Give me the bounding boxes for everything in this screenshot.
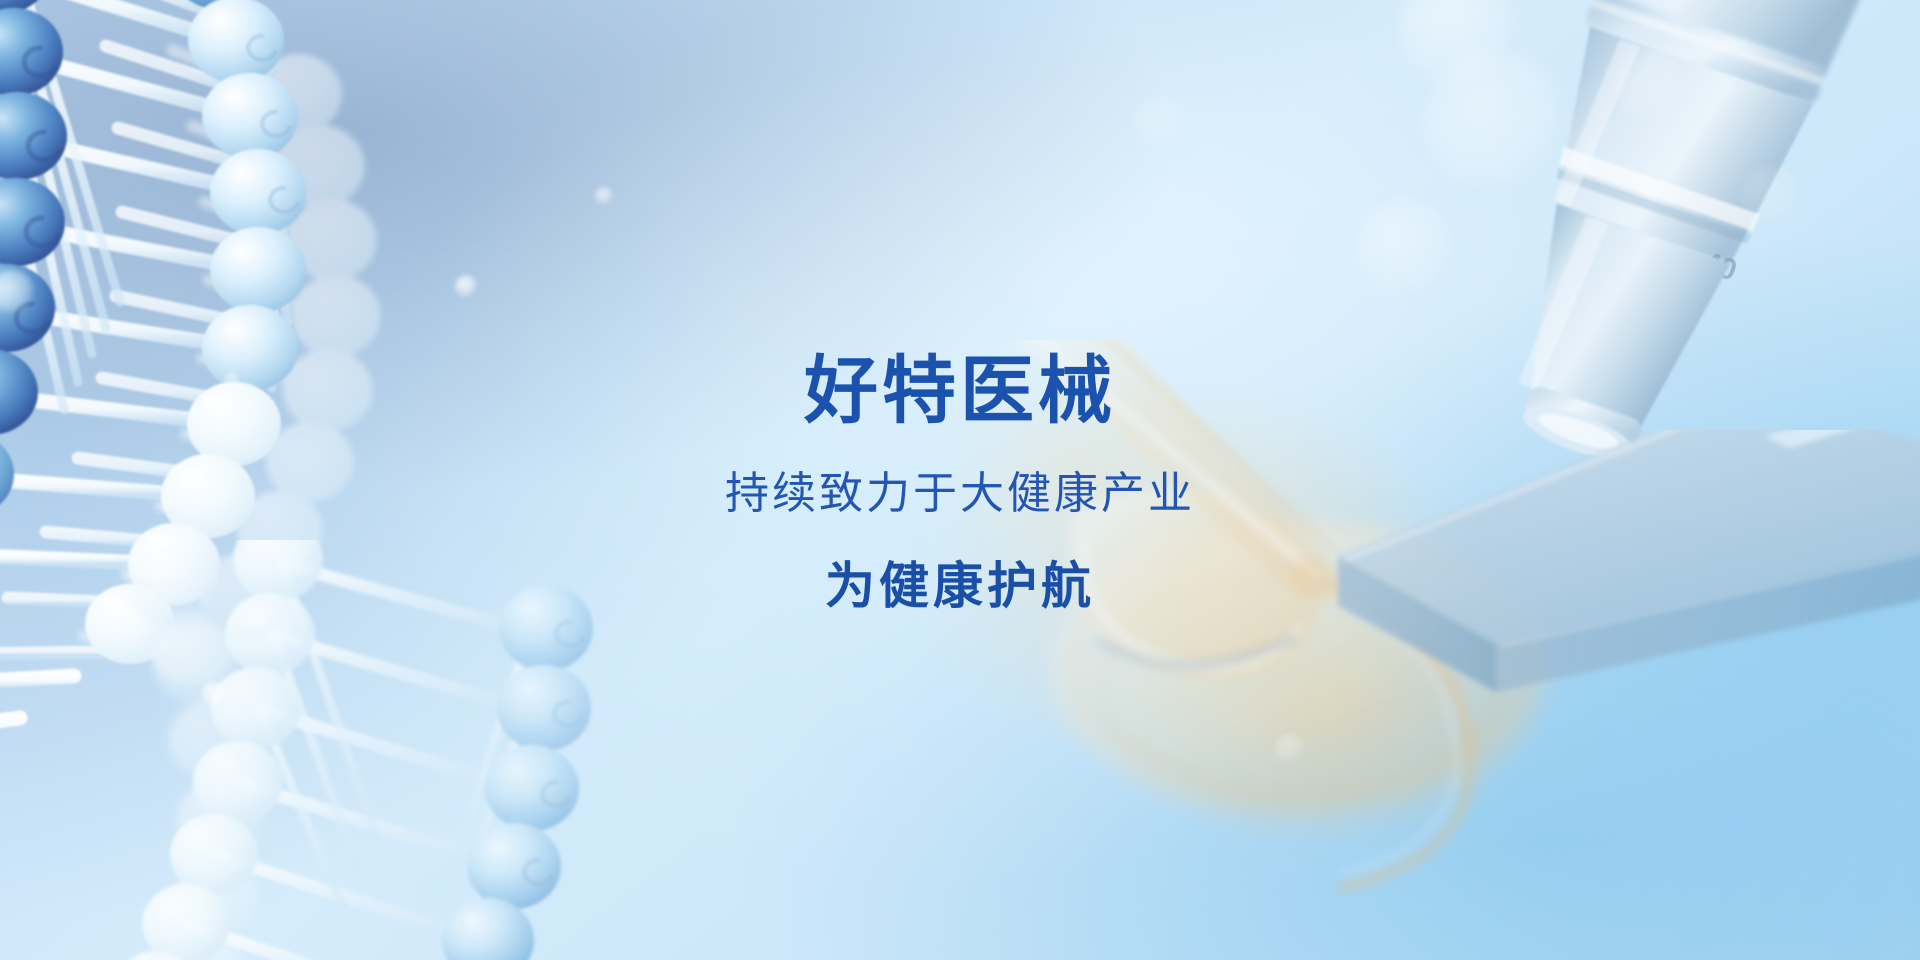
page-slogan: 为健康护航 <box>825 559 1095 614</box>
page-subtitle: 持续致力于大健康产业 <box>725 470 1195 518</box>
hero-banner: 40 <box>0 0 1920 960</box>
page-title: 好特医械 <box>804 352 1116 430</box>
